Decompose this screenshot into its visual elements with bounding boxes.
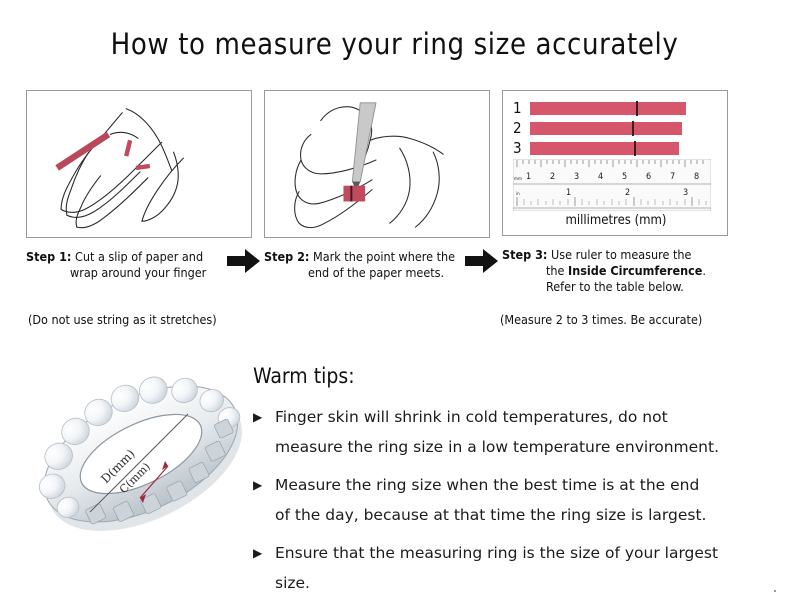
- arrow-right-icon-1: [227, 248, 261, 274]
- step-1-column: Step 1: Cut a slip of paper and wrap aro…: [26, 90, 252, 281]
- ruler-unit-label: millimetres (mm): [503, 213, 728, 228]
- svg-text:6: 6: [646, 172, 651, 182]
- strip-mark-2: [632, 121, 634, 136]
- step-3-note: (Measure 2 to 3 times. Be accurate): [500, 312, 702, 327]
- warm-tips-section: Warm tips: ▶ Finger skin will shrink in …: [253, 364, 763, 606]
- arrow-right-icon-2: [465, 248, 499, 274]
- strip-number-2: 2: [513, 120, 530, 136]
- step-2-panel: [264, 90, 490, 238]
- step-1-caption: Step 1: Cut a slip of paper and wrap aro…: [26, 249, 252, 281]
- svg-text:5: 5: [622, 172, 627, 182]
- ruler-graphic: 12 34 56 78 mm 12 3 in: [513, 159, 711, 211]
- step-1-caption-line2: wrap around your finger: [26, 265, 252, 281]
- strip-number-3: 3: [513, 140, 530, 156]
- step-2-caption-line2: end of the paper meets.: [264, 265, 490, 281]
- svg-text:8: 8: [694, 172, 699, 182]
- page-title: How to measure your ring size accurately: [0, 27, 789, 61]
- step-2-lead: Step 2:: [264, 249, 309, 264]
- tip-text: Measure the ring size when the best time…: [275, 470, 763, 530]
- svg-text:1: 1: [566, 188, 571, 198]
- svg-text:in: in: [516, 191, 520, 197]
- svg-text:1: 1: [526, 172, 531, 182]
- svg-text:3: 3: [574, 172, 579, 182]
- svg-text:3: 3: [683, 188, 688, 198]
- step-1-panel: [26, 90, 252, 238]
- strip-mark-1: [636, 101, 638, 116]
- tip-item: ▶ Measure the ring size when the best ti…: [253, 470, 763, 530]
- step-3-caption-line2: the Inside Circumference.: [502, 263, 728, 279]
- paper-strips-on-ruler-illustration: 1 2 3: [503, 91, 727, 235]
- strip-bar-2: [530, 122, 682, 135]
- step-3-lead: Step 3:: [502, 247, 547, 262]
- steps-row: Step 1: Cut a slip of paper and wrap aro…: [0, 90, 789, 340]
- step-1-caption-line1: Cut a slip of paper and: [75, 249, 203, 264]
- corner-speck: [774, 590, 776, 592]
- tip-line: of the day, because at that time the rin…: [275, 500, 763, 530]
- pen: [352, 103, 376, 192]
- bullet-triangle-icon: ▶: [253, 538, 262, 568]
- tip-item: ▶ Finger skin will shrink in cold temper…: [253, 402, 763, 462]
- bullet-triangle-icon: ▶: [253, 402, 262, 432]
- svg-text:2: 2: [550, 172, 555, 182]
- step-3-caption-line1: Use ruler to measure the: [551, 247, 691, 262]
- tip-text: Ensure that the measuring ring is the si…: [275, 538, 763, 598]
- tip-line: measure the ring size in a low temperatu…: [275, 432, 763, 462]
- svg-text:4: 4: [598, 172, 603, 182]
- measured-strip-row-3: 3: [513, 140, 719, 156]
- tip-line: Ensure that the measuring ring is the si…: [275, 538, 763, 568]
- hand-with-pen-marking-illustration: [265, 91, 489, 237]
- warm-tips-heading: Warm tips:: [253, 364, 763, 388]
- svg-text:7: 7: [670, 172, 675, 182]
- hand-with-paper-slip-illustration: [27, 91, 251, 237]
- step-3-panel: 1 2 3: [502, 90, 728, 236]
- svg-text:mm: mm: [514, 177, 522, 182]
- step-3-inside-circumference: Inside Circumference: [568, 263, 702, 278]
- tip-line: Finger skin will shrink in cold temperat…: [275, 402, 763, 432]
- strip-number-1: 1: [513, 100, 530, 116]
- paper-strip-mark: [343, 186, 365, 202]
- step-1-note: (Do not use string as it stretches): [28, 312, 217, 327]
- tip-line: size.: [275, 568, 763, 598]
- tip-line: Measure the ring size when the best time…: [275, 470, 763, 500]
- step-3-caption: Step 3: Use ruler to measure the the Ins…: [502, 247, 728, 295]
- strip-mark-3: [634, 141, 636, 156]
- bullet-triangle-icon: ▶: [253, 470, 262, 500]
- step-2-caption: Step 2: Mark the point where the end of …: [264, 249, 490, 281]
- measured-strip-row-1: 1: [513, 100, 719, 116]
- step-1-lead: Step 1:: [26, 249, 71, 264]
- step-3-column: 1 2 3: [502, 90, 728, 295]
- svg-text:2: 2: [625, 188, 630, 198]
- ring-diagram: D(mm) C(mm): [22, 352, 260, 557]
- strip-bar-3: [530, 142, 679, 155]
- step-3-line2-prefix: the: [546, 263, 568, 278]
- measured-strip-row-2: 2: [513, 120, 719, 136]
- step-3-caption-line3: Refer to the table below.: [502, 279, 728, 295]
- tip-text: Finger skin will shrink in cold temperat…: [275, 402, 763, 462]
- step-2-column: Step 2: Mark the point where the end of …: [264, 90, 490, 281]
- tip-item: ▶ Ensure that the measuring ring is the …: [253, 538, 763, 598]
- strip-bar-1: [530, 102, 686, 115]
- step-3-line2-suffix: .: [702, 263, 706, 278]
- step-2-caption-line1: Mark the point where the: [313, 249, 455, 264]
